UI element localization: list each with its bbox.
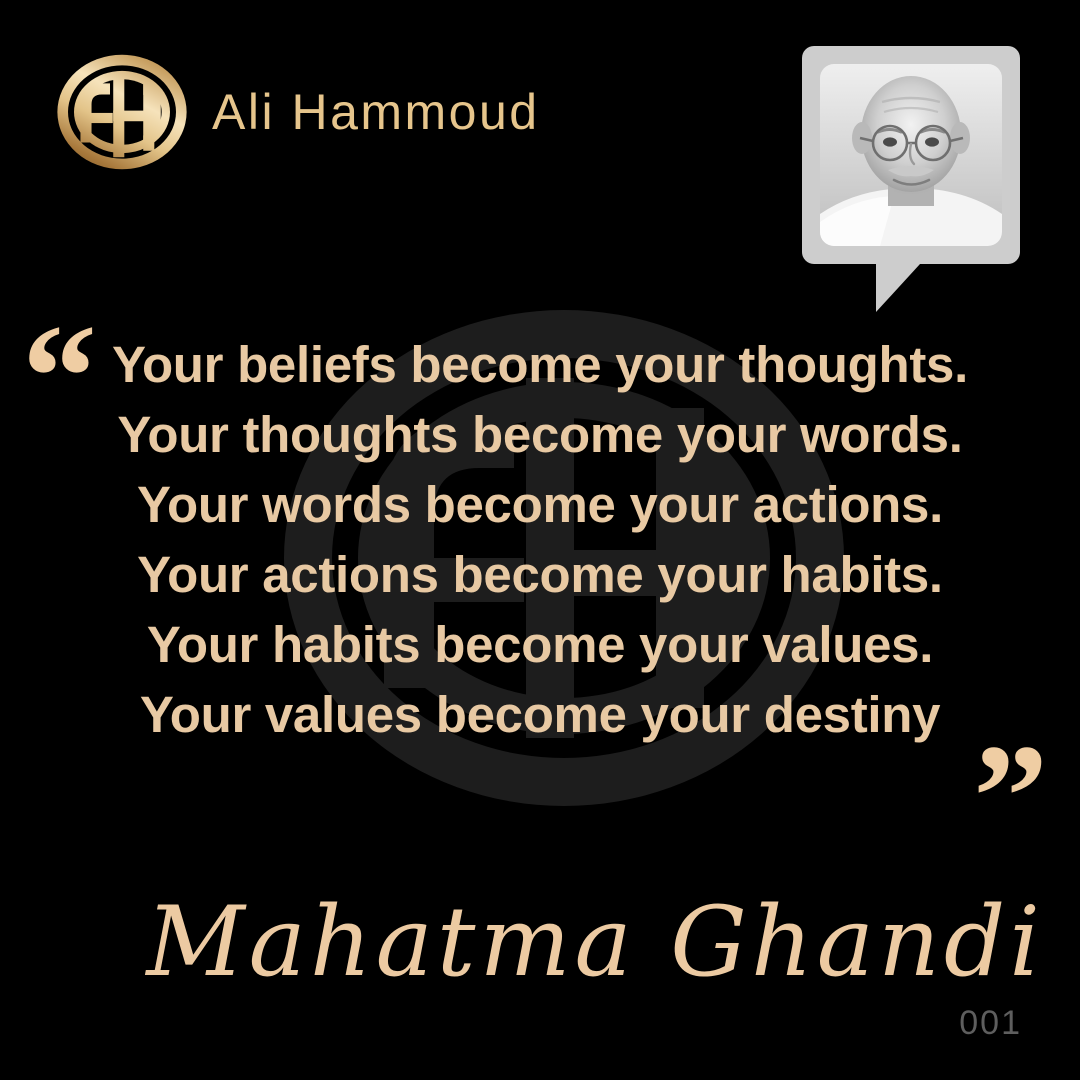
quote-line: Your words become your actions. [60, 470, 1020, 540]
quote-card: Ali Hammoud [0, 0, 1080, 1080]
ah-monogram-icon [52, 52, 192, 172]
quote-attribution: Mahatma Ghandi [0, 882, 1044, 1002]
quote-close-icon: ” [973, 722, 1044, 872]
index-number: 001 [959, 1004, 1022, 1043]
quote-line: Your habits become your values. [60, 610, 1020, 680]
brand-header: Ali Hammoud [52, 52, 540, 172]
quote-line: Your actions become your habits. [60, 540, 1020, 610]
quote-block: “ Your beliefs become your thoughts. You… [0, 330, 1080, 750]
speech-bubble-portrait-icon [802, 46, 1020, 316]
brand-name: Ali Hammoud [212, 87, 540, 137]
quote-line: Your thoughts become your words. [60, 400, 1020, 470]
quote-lines: Your beliefs become your thoughts. Your … [0, 330, 1080, 750]
quote-line: Your beliefs become your thoughts. [60, 330, 1020, 400]
quote-line: Your values become your destiny [60, 680, 1020, 750]
